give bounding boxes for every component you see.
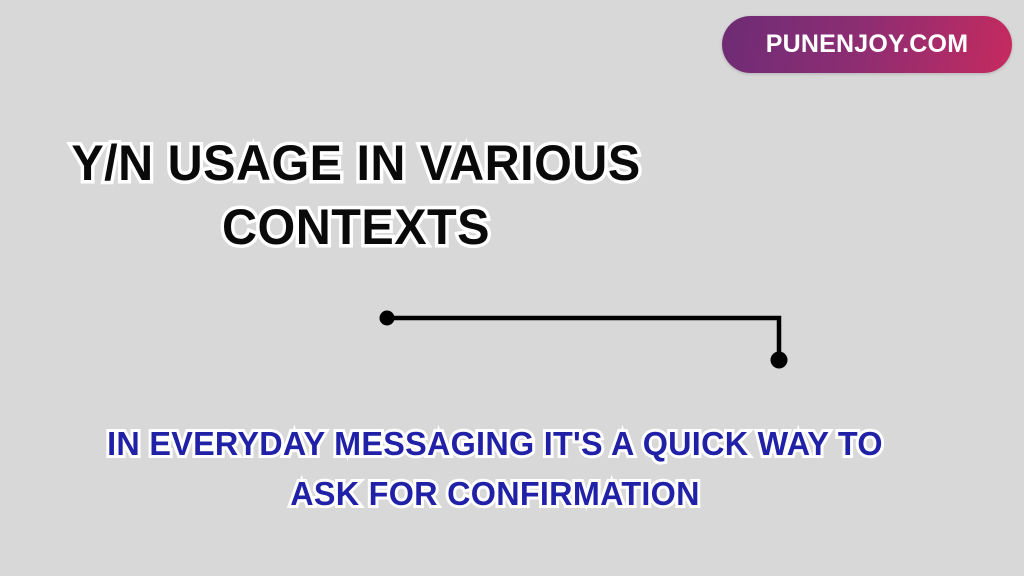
headline-block: Y/N USAGE IN VARIOUS CONTEXTS [0, 131, 712, 259]
slide-canvas: PUNENJOY.COM Y/N USAGE IN VARIOUS CONTEX… [0, 0, 1024, 576]
connector-end-dot [771, 352, 788, 369]
brand-badge[interactable]: PUNENJOY.COM [722, 16, 1012, 73]
headline-line-1: Y/N USAGE IN VARIOUS [11, 131, 702, 195]
brand-badge-label: PUNENJOY.COM [766, 32, 968, 57]
headline-line-2: CONTEXTS [11, 195, 702, 259]
caption-line-2: ASK FOR CONFIRMATION [10, 469, 980, 519]
connector-start-dot [380, 311, 395, 326]
connector-path [387, 318, 779, 360]
elbow-connector-icon [370, 298, 798, 376]
caption-block: IN EVERYDAY MESSAGING IT'S A QUICK WAY T… [0, 419, 990, 519]
caption-line-1: IN EVERYDAY MESSAGING IT'S A QUICK WAY T… [10, 419, 980, 469]
